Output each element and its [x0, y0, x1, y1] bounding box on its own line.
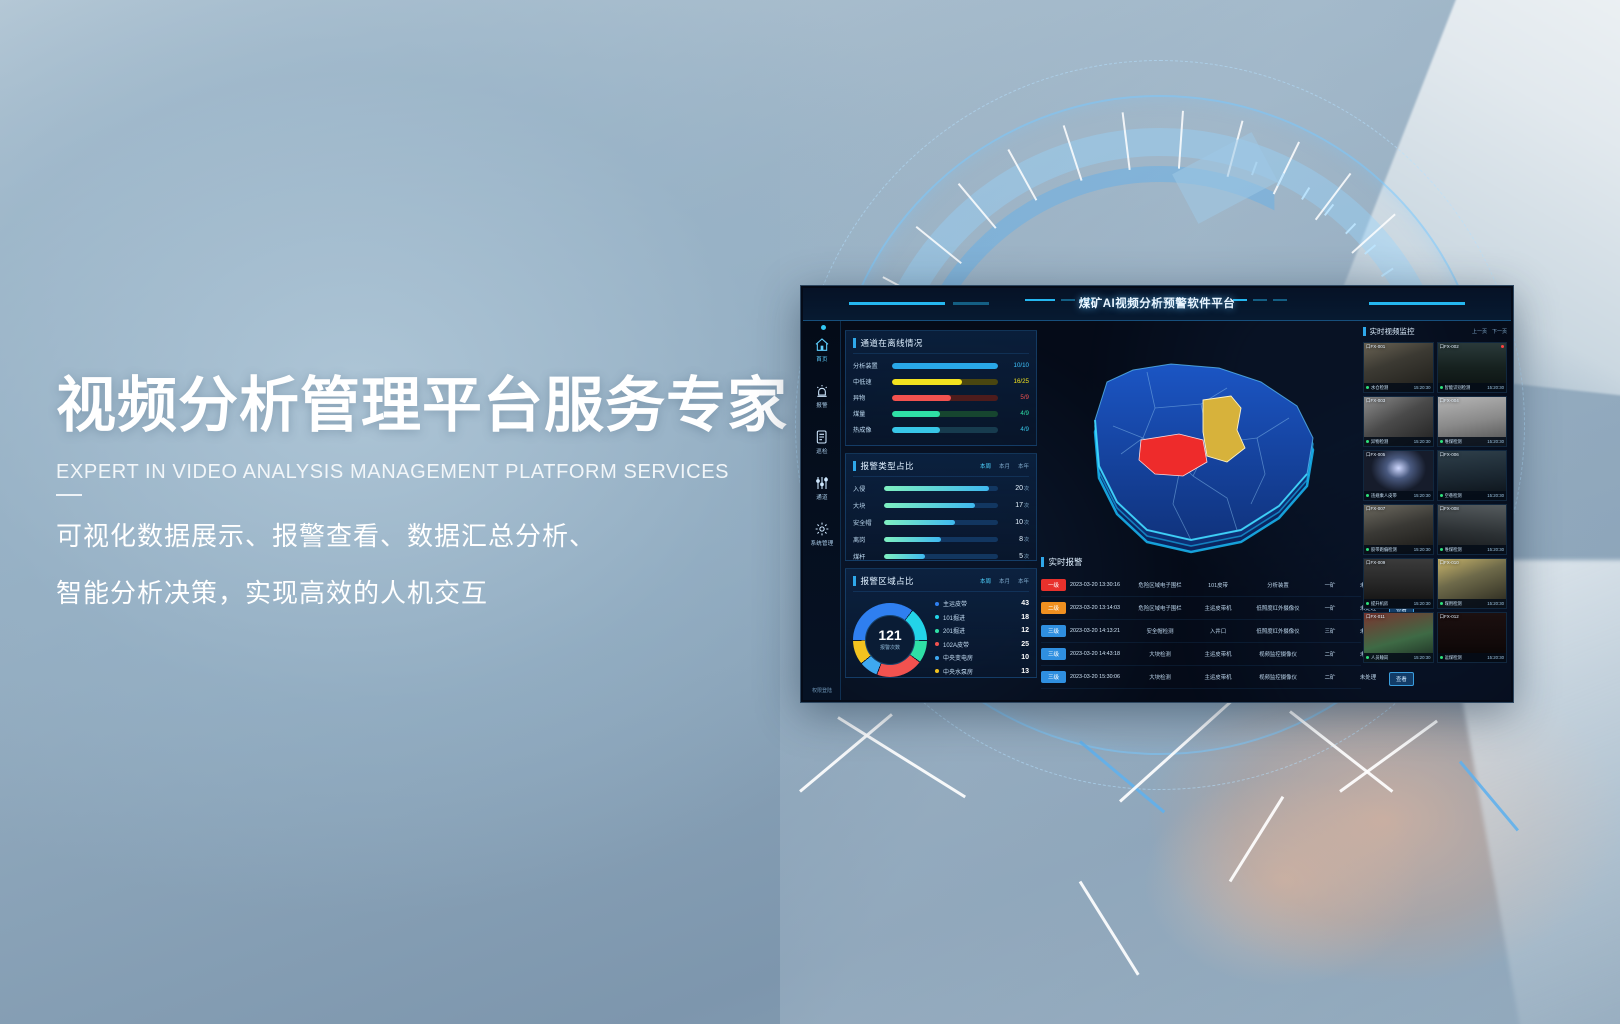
accent-bar [853, 338, 856, 348]
video-id: 口FX-011 [1366, 614, 1385, 620]
legend-dot [935, 602, 939, 606]
channel-name: 中低速 [853, 377, 887, 386]
video-time: 15:20:30 [1487, 439, 1504, 444]
channel-panel-title: 通道在离线情况 [861, 337, 923, 349]
alarm-area-tab[interactable]: 本月 [999, 577, 1010, 585]
video-grid: 口FX-001水仓检测15:20:30口FX-002智能识别检测15:20:30… [1363, 342, 1507, 663]
dashboard-title: 煤矿AI视频分析预警软件平台 [803, 295, 1511, 311]
legend-item: 中央变电房10 [935, 653, 1029, 662]
legend-label: 102A皮带 [943, 640, 1017, 649]
video-tile[interactable]: 口FX-005违规乘人皮带15:20:30 [1363, 450, 1434, 501]
left-panel-column: 通道在离线情况 分析装置10/10中低速16/25异物5/9煤量4/9热成像4/… [845, 330, 1037, 692]
legend-value: 25 [1021, 641, 1029, 648]
video-name: 违规乘人皮带 [1371, 493, 1412, 499]
alarm-location: 主运皮带机 [1193, 604, 1243, 612]
alarm-device: 低照度红外摄像仪 [1247, 604, 1309, 612]
legend-dot [935, 629, 939, 633]
channel-bar-fill [892, 379, 962, 385]
alarm-area-header: 报警区域占比 本周本月本年 [853, 575, 1029, 592]
video-id: 口FX-008 [1440, 506, 1459, 512]
channel-value: 16/25 [1003, 378, 1029, 385]
hero-text-block: 视频分析管理平台服务专家 EXPERT IN VIDEO ANALYSIS MA… [56, 372, 836, 610]
alarm-type-track [884, 554, 998, 559]
alarm-type: 大块检测 [1131, 650, 1189, 658]
alarm-time: 2023-03-20 14:13:21 [1070, 628, 1127, 634]
video-name: 异物检测 [1371, 439, 1412, 445]
alarm-time: 2023-03-20 14:43:18 [1070, 651, 1127, 657]
table-row[interactable]: 三级2023-03-20 14:43:18大块检测主运皮带机视频监控摄像仪二矿未… [1041, 643, 1361, 666]
online-dot [1440, 656, 1443, 659]
channel-value: 10/10 [1003, 362, 1029, 369]
alarm-device: 低照度红外摄像仪 [1247, 627, 1309, 635]
video-statusbar: 提升机房15:20:30 [1364, 599, 1433, 608]
video-statusbar: 违规乘人皮带15:20:30 [1364, 491, 1433, 500]
video-tile[interactable]: 口FX-007胶带跑偏检测15:20:30 [1363, 504, 1434, 555]
table-row[interactable]: 二级2023-03-20 13:14:03危险区域电子围栏主运皮带机低照度红外摄… [1041, 597, 1361, 620]
alarm-type-track [884, 503, 998, 508]
alarm-type-value: 8次 [1003, 536, 1029, 543]
video-name: 煤用检测 [1445, 601, 1486, 607]
channel-online-panel: 通道在离线情况 分析装置10/10中低速16/25异物5/9煤量4/9热成像4/… [845, 330, 1037, 446]
alarm-type-row: 大块17次 [853, 501, 1029, 510]
hero-line-2: 智能分析决策，实现高效的人机交互 [56, 573, 836, 610]
alarm-table-title: 实时报警 [1049, 556, 1083, 568]
video-time: 15:20:30 [1487, 655, 1504, 660]
alarm-location: 101皮带 [1193, 581, 1243, 589]
video-name: 水仓检测 [1371, 385, 1412, 391]
video-statusbar: 水仓检测15:20:30 [1364, 383, 1433, 392]
online-dot [1366, 548, 1369, 551]
alarm-type-fill [884, 537, 941, 542]
sidebar-label-home: 首页 [816, 355, 827, 363]
video-statusbar: 异物检测15:20:30 [1364, 437, 1433, 446]
prev-page-button[interactable]: 上一页 [1472, 328, 1487, 335]
sidebar-item-inspection[interactable]: 巡检 [803, 419, 841, 465]
alarm-area-donut: 121 报警次数 [853, 603, 927, 677]
video-tile[interactable]: 口FX-010煤用检测15:20:30 [1437, 558, 1508, 609]
gear-icon [814, 521, 830, 537]
alarm-type-value: 20次 [1003, 485, 1029, 492]
status-badge: 二级 [1041, 602, 1066, 614]
video-id: 口FX-007 [1366, 506, 1385, 512]
video-id: 口FX-012 [1440, 614, 1459, 620]
channel-bar-track [892, 411, 998, 417]
video-time: 15:20:30 [1487, 601, 1504, 606]
online-dot [1440, 494, 1443, 497]
channel-bar-track [892, 363, 998, 369]
video-time: 15:20:30 [1414, 601, 1431, 606]
alarm-type: 大块检测 [1131, 673, 1189, 681]
status-badge: 三级 [1041, 648, 1066, 660]
online-dot [1440, 548, 1443, 551]
table-row[interactable]: 一级2023-03-20 13:30:16危险区域电子围栏101皮带分析装置一矿… [1041, 574, 1361, 597]
alarm-type-name: 煤杆 [853, 552, 879, 561]
video-panel-title: 实时视频监控 [1370, 326, 1415, 337]
video-tile[interactable]: 口FX-008堆煤检测15:20:30 [1437, 504, 1508, 555]
alarm-mine: 一矿 [1313, 581, 1347, 589]
video-id: 口FX-001 [1366, 344, 1385, 350]
video-id: 口FX-003 [1366, 398, 1385, 404]
legend-dot [935, 642, 939, 646]
channel-row: 中低速16/25 [853, 377, 1029, 386]
donut-total: 121 [878, 628, 901, 642]
alarm-area-tab[interactable]: 本年 [1018, 577, 1029, 585]
legend-value: 43 [1021, 600, 1029, 607]
alarm-type-row: 入侵20次 [853, 484, 1029, 493]
alarm-type-fill [884, 520, 955, 525]
video-id: 口FX-004 [1440, 398, 1459, 404]
dashboard-header: 煤矿AI视频分析预警软件平台 [803, 288, 1511, 321]
alarm-area-tabs[interactable]: 本周本月本年 [980, 577, 1029, 585]
video-tile[interactable]: 口FX-004堆煤检测15:20:30 [1437, 396, 1508, 447]
channel-icon [814, 475, 830, 491]
status-badge: 三级 [1041, 625, 1066, 637]
alarm-type-tab[interactable]: 本年 [1018, 462, 1029, 470]
alarm-time: 2023-03-20 13:14:03 [1070, 605, 1127, 611]
channel-row: 异物5/9 [853, 393, 1029, 402]
alarm-type-fill [884, 486, 989, 491]
alarm-type-value: 5次 [1003, 553, 1029, 560]
sidebar-item-channel[interactable]: 通道 [803, 465, 841, 511]
alarm-table-rows: 一级2023-03-20 13:30:16危险区域电子围栏101皮带分析装置一矿… [1041, 574, 1361, 689]
sidebar-label-channel: 通道 [816, 493, 827, 501]
channel-bar-fill [892, 411, 940, 417]
video-time: 15:20:30 [1487, 547, 1504, 552]
channel-name: 异物 [853, 393, 887, 402]
video-statusbar: 煤用检测15:20:30 [1438, 599, 1507, 608]
sidebar-label-inspection: 巡检 [816, 447, 827, 455]
channel-bar-track [892, 395, 998, 401]
channel-panel-header: 通道在离线情况 [853, 337, 1029, 354]
video-tile[interactable]: 口FX-002智能识别检测15:20:30 [1437, 342, 1508, 393]
alarm-mine: 一矿 [1313, 604, 1347, 612]
legend-label: 201掘进 [943, 626, 1017, 635]
channel-name: 分析装置 [853, 361, 887, 370]
legend-item: 201掘进12 [935, 626, 1029, 635]
alarm-type-track [884, 537, 998, 542]
video-time: 15:20:30 [1414, 439, 1431, 444]
accent-bar [853, 461, 856, 471]
dashboard-screen: 煤矿AI视频分析预警软件平台 首页 [803, 288, 1511, 700]
hero-line-1: 可视化数据展示、报警查看、数据汇总分析、 [56, 516, 836, 553]
hero-divider [56, 494, 82, 496]
legend-label: 中央变电房 [943, 653, 1017, 662]
legend-item: 102A皮带25 [935, 640, 1029, 649]
channel-bar-fill [892, 395, 951, 401]
donut-legend: 主运皮带43101掘进18201掘进12102A皮带25中央变电房10中央水泵房… [935, 599, 1029, 680]
alarm-type-value: 17次 [1003, 502, 1029, 509]
online-dot [1366, 602, 1369, 605]
page-title: 视频分析管理平台服务专家 [56, 372, 836, 439]
video-id: 口FX-010 [1440, 560, 1459, 566]
online-dot [1440, 386, 1443, 389]
video-statusbar: 空巷检测15:20:30 [1438, 491, 1507, 500]
legend-label: 101掘进 [943, 613, 1017, 622]
alarm-type-row: 安全帽10次 [853, 518, 1029, 527]
alarm-area-panel: 报警区域占比 本周本月本年 121 报警次数 主运皮带43101掘进18201掘… [845, 568, 1037, 678]
video-time: 15:20:30 [1414, 385, 1431, 390]
online-dot [1440, 602, 1443, 605]
legend-dot [935, 656, 939, 660]
next-page-button[interactable]: 下一页 [1492, 328, 1507, 335]
legend-dot [935, 669, 939, 673]
video-name: 运煤检测 [1445, 655, 1486, 661]
donut-caption: 报警次数 [880, 644, 900, 651]
home-icon [814, 337, 830, 353]
sidebar-status-dot [821, 325, 826, 330]
channel-value: 4/9 [1003, 426, 1029, 433]
region-map[interactable] [1041, 330, 1361, 570]
video-id: 口FX-009 [1366, 560, 1385, 566]
legend-label: 主运皮带 [943, 599, 1017, 608]
sidebar-footer: 权限登陆 [803, 687, 841, 694]
video-tile[interactable]: 口FX-001水仓检测15:20:30 [1363, 342, 1434, 393]
alarm-type-tabs[interactable]: 本周本月本年 [980, 462, 1029, 470]
video-name: 堆煤检测 [1445, 547, 1486, 553]
alarm-type-row: 煤杆5次 [853, 552, 1029, 561]
alarm-type-title: 报警类型占比 [861, 460, 914, 472]
alarm-mine: 三矿 [1313, 627, 1347, 635]
video-time: 15:20:30 [1487, 493, 1504, 498]
alarm-type: 危险区域电子围栏 [1131, 604, 1189, 612]
video-id: 口FX-006 [1440, 452, 1459, 458]
alarm-type-name: 离岗 [853, 535, 879, 544]
online-dot [1366, 440, 1369, 443]
video-id: 口FX-005 [1366, 452, 1385, 458]
alarm-icon [814, 383, 830, 399]
channel-rows: 分析装置10/10中低速16/25异物5/9煤量4/9热成像4/9 [853, 361, 1029, 434]
video-statusbar: 智能识别检测15:20:30 [1438, 383, 1507, 392]
channel-value: 4/9 [1003, 410, 1029, 417]
alarm-type-value: 10次 [1003, 519, 1029, 526]
online-dot [1366, 494, 1369, 497]
alarm-time: 2023-03-20 13:30:16 [1070, 582, 1127, 588]
status-badge: 一级 [1041, 579, 1066, 591]
alarm-location: 主运皮带机 [1193, 673, 1243, 681]
inspection-icon [814, 429, 830, 445]
video-name: 提升机房 [1371, 601, 1412, 607]
legend-item: 中央水泵房13 [935, 667, 1029, 676]
legend-value: 12 [1021, 627, 1029, 634]
alarm-type-name: 大块 [853, 501, 879, 510]
sidebar-label-system: 系统管理 [811, 539, 834, 547]
alarm-area-tab[interactable]: 本周 [980, 577, 991, 585]
alarm-type: 安全帽检测 [1131, 627, 1189, 635]
legend-item: 101掘进18 [935, 613, 1029, 622]
alarm-device: 视频监控摄像仪 [1247, 673, 1309, 681]
alarm-device: 分析装置 [1247, 581, 1309, 589]
video-time: 15:20:30 [1414, 493, 1431, 498]
donut-chart-wrap: 121 报警次数 主运皮带43101掘进18201掘进12102A皮带25中央变… [853, 599, 1029, 680]
alarm-type-row: 离岗8次 [853, 535, 1029, 544]
video-time: 15:20:30 [1414, 547, 1431, 552]
hero-subtitle: EXPERT IN VIDEO ANALYSIS MANAGEMENT PLAT… [56, 461, 836, 484]
alarm-mine: 二矿 [1313, 673, 1347, 681]
map-svg [1051, 334, 1351, 566]
alarm-type-panel: 报警类型占比 本周本月本年 入侵20次大块17次安全帽10次离岗8次煤杆5次 [845, 453, 1037, 561]
alarm-type-tab[interactable]: 本周 [980, 462, 991, 470]
video-panel-header: 实时视频监控 上一页 下一页 [1363, 326, 1507, 337]
alarm-type-rows: 入侵20次大块17次安全帽10次离岗8次煤杆5次 [853, 484, 1029, 561]
accent-bar [1363, 327, 1366, 336]
table-row[interactable]: 三级2023-03-20 15:30:06大块检测主运皮带机视频监控摄像仪二矿未… [1041, 666, 1361, 689]
legend-label: 中央水泵房 [943, 667, 1017, 676]
video-pagination[interactable]: 上一页 下一页 [1472, 328, 1507, 335]
video-tile[interactable]: 口FX-012运煤检测15:20:30 [1437, 612, 1508, 663]
legend-value: 18 [1021, 614, 1029, 621]
video-name: 堆煤检测 [1445, 439, 1486, 445]
channel-bar-fill [892, 363, 998, 369]
alarm-device: 视频监控摄像仪 [1247, 650, 1309, 658]
channel-bar-track [892, 427, 998, 433]
table-row[interactable]: 三级2023-03-20 14:13:21安全帽检测入井口低照度红外摄像仪三矿未… [1041, 620, 1361, 643]
video-statusbar: 人员睡岗15:20:30 [1364, 653, 1433, 662]
alarm-time: 2023-03-20 15:30:06 [1070, 674, 1127, 680]
alarm-type-name: 入侵 [853, 484, 879, 493]
channel-bar-track [892, 379, 998, 385]
alarm-type-fill [884, 554, 925, 559]
video-tile[interactable]: 口FX-006空巷检测15:20:30 [1437, 450, 1508, 501]
video-name: 空巷检测 [1445, 493, 1486, 499]
sidebar-item-alarm[interactable]: 报警 [803, 373, 841, 419]
accent-bar [1041, 557, 1044, 567]
channel-row: 煤量4/9 [853, 409, 1029, 418]
video-time: 15:20:30 [1487, 385, 1504, 390]
channel-bar-fill [892, 427, 940, 433]
alarm-type-name: 安全帽 [853, 518, 879, 527]
recording-indicator [1501, 345, 1504, 348]
video-id: 口FX-002 [1440, 344, 1459, 350]
video-tile[interactable]: 口FX-009提升机房15:20:30 [1363, 558, 1434, 609]
alarm-type-track [884, 520, 998, 525]
legend-value: 13 [1021, 668, 1029, 675]
alarm-location: 主运皮带机 [1193, 650, 1243, 658]
online-dot [1366, 656, 1369, 659]
legend-value: 10 [1021, 654, 1029, 661]
video-statusbar: 堆煤检测15:20:30 [1438, 545, 1507, 554]
sidebar-label-alarm: 报警 [816, 401, 827, 409]
online-dot [1366, 386, 1369, 389]
video-tile[interactable]: 口FX-003异物检测15:20:30 [1363, 396, 1434, 447]
alarm-type: 危险区域电子围栏 [1131, 581, 1189, 589]
video-name: 人员睡岗 [1371, 655, 1412, 661]
alarm-table-header: 实时报警 [1041, 556, 1361, 568]
dashboard-monitor: 煤矿AI视频分析预警软件平台 首页 [800, 285, 1514, 703]
alarm-type-header: 报警类型占比 本周本月本年 [853, 460, 1029, 477]
online-dot [1440, 440, 1443, 443]
video-monitor-panel: 实时视频监控 上一页 下一页 口FX-001水仓检测15:20:30口FX-00… [1363, 326, 1507, 694]
channel-value: 5/9 [1003, 394, 1029, 401]
legend-dot [935, 615, 939, 619]
alarm-area-title: 报警区域占比 [861, 575, 914, 587]
realtime-alarm-panel: 实时报警 一级2023-03-20 13:30:16危险区域电子围栏101皮带分… [1041, 556, 1361, 692]
alarm-type-fill [884, 503, 975, 508]
channel-name: 煤量 [853, 409, 887, 418]
video-statusbar: 胶带跑偏检测15:20:30 [1364, 545, 1433, 554]
video-statusbar: 运煤检测15:20:30 [1438, 653, 1507, 662]
channel-row: 分析装置10/10 [853, 361, 1029, 370]
legend-item: 主运皮带43 [935, 599, 1029, 608]
video-name: 胶带跑偏检测 [1371, 547, 1412, 553]
alarm-type-track [884, 486, 998, 491]
dashboard-sidebar: 首页 报警 巡检 [803, 321, 841, 700]
video-name: 智能识别检测 [1445, 385, 1486, 391]
sidebar-item-system[interactable]: 系统管理 [803, 511, 841, 557]
video-tile[interactable]: 口FX-011人员睡岗15:20:30 [1363, 612, 1434, 663]
status-badge: 三级 [1041, 671, 1066, 683]
alarm-location: 入井口 [1193, 627, 1243, 635]
channel-name: 热成像 [853, 425, 887, 434]
video-time: 15:20:30 [1414, 655, 1431, 660]
accent-bar [853, 576, 856, 586]
sidebar-item-home[interactable]: 首页 [803, 327, 841, 373]
video-statusbar: 堆煤检测15:20:30 [1438, 437, 1507, 446]
alarm-type-tab[interactable]: 本月 [999, 462, 1010, 470]
channel-row: 热成像4/9 [853, 425, 1029, 434]
donut-center: 121 报警次数 [865, 615, 915, 665]
alarm-mine: 二矿 [1313, 650, 1347, 658]
